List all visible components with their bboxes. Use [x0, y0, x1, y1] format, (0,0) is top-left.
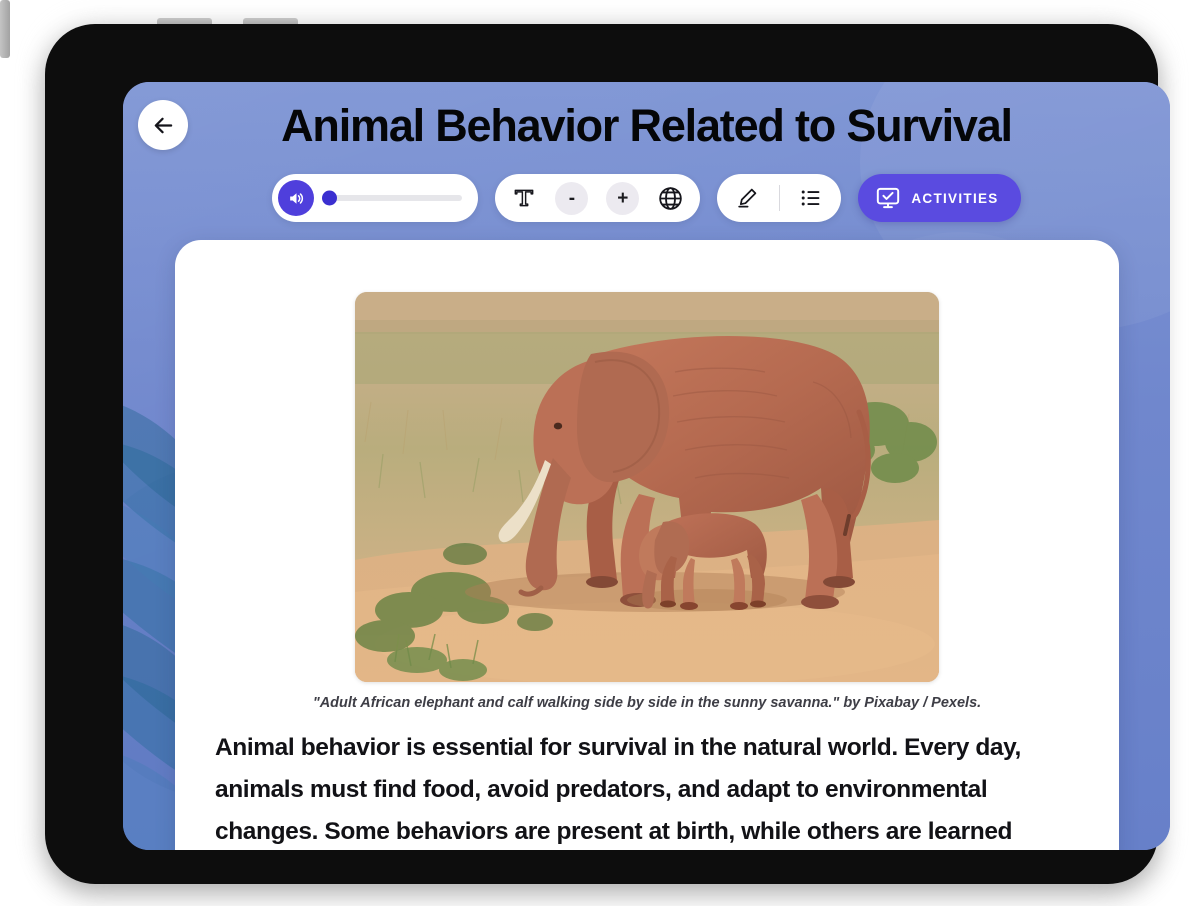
lesson-image	[355, 292, 939, 682]
monitor-check-icon	[875, 185, 901, 211]
page-title: Animal Behavior Related to Survival	[123, 100, 1170, 152]
image-caption: "Adult African elephant and calf walking…	[213, 695, 1081, 711]
tablet-screen: Animal Behavior Related to Survival	[123, 82, 1170, 850]
activities-button-label: ACTIVITIES	[911, 191, 998, 206]
annotation-tools-group	[717, 174, 841, 222]
screenshot-stage: Animal Behavior Related to Survival	[0, 0, 1200, 906]
tablet-device-frame: Animal Behavior Related to Survival	[45, 24, 1158, 884]
globe-icon[interactable]	[657, 185, 684, 212]
bulleted-list-icon[interactable]	[799, 186, 823, 210]
volume-slider-thumb[interactable]	[322, 191, 337, 206]
toolbar-divider	[779, 185, 780, 211]
hardware-power-button[interactable]	[0, 0, 10, 58]
activities-button[interactable]: ACTIVITIES	[858, 174, 1020, 222]
elephant-photo	[355, 292, 939, 682]
volume-control-group	[272, 174, 478, 222]
increase-text-size-button[interactable]: +	[606, 182, 639, 215]
speaker-volume-icon	[287, 189, 306, 208]
text-settings-group: - +	[495, 174, 700, 222]
lesson-toolbar: - +	[123, 174, 1170, 222]
text-format-icon[interactable]	[511, 185, 537, 211]
lesson-content-card: "Adult African elephant and calf walking…	[175, 240, 1119, 850]
play-audio-button[interactable]	[278, 180, 314, 216]
volume-slider-track[interactable]	[325, 195, 462, 201]
lesson-paragraph: Animal behavior is essential for surviva…	[213, 727, 1081, 850]
decrease-text-size-button[interactable]: -	[555, 182, 588, 215]
pencil-highlighter-icon[interactable]	[735, 186, 759, 210]
